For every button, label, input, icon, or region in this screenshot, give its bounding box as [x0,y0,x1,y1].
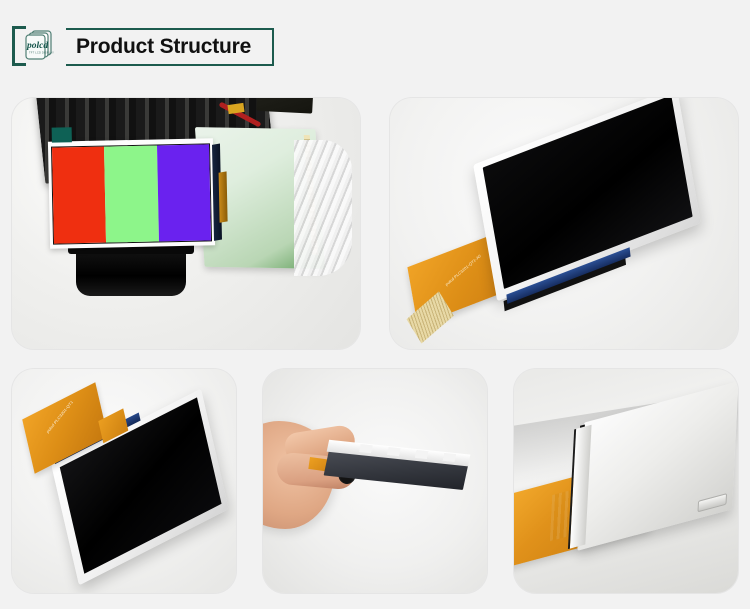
photo-content: polcd PLC3201-QT1 [12,369,236,593]
ribbon-wires-bundle [294,140,352,276]
photo-content [12,98,360,349]
photo-content [263,369,487,593]
lcd-panel [48,138,215,248]
photo-content [514,369,738,593]
page-header: polcd TFT LCD DISPLAY Product Structure [0,0,750,90]
lcd-module-reverse-angle-photo[interactable]: polcd PLC3201-QT1 [12,369,236,593]
fpc-printed-label: polcd PLC3201-QT1-A0 [445,253,482,287]
green-bar [104,145,158,242]
svg-text:polcd: polcd [26,41,48,51]
fpc-printed-label: polcd PLC3201-QT1 [46,399,74,434]
page-title: Product Structure [66,35,251,59]
lcd-module-front-angle-photo[interactable]: polcd PLC3201-QT1-A0 [390,98,738,349]
photo-content: polcd PLC3201-QT1-A0 [390,98,738,349]
lcd-module-back-metal-frame-photo[interactable] [514,369,738,593]
lcd-color-bar-test-photo[interactable] [12,98,360,349]
blue-bar [157,144,211,241]
black-display-stand [76,246,186,296]
color-bar-test-pattern [51,143,212,244]
lcd-side-edge-fpc [219,171,228,222]
polcd-logo-icon: polcd TFT LCD DISPLAY [20,28,60,64]
lcd-module-thickness-in-hand-photo[interactable] [263,369,487,593]
page-title-box: Product Structure [66,28,274,66]
lcd-corner-tab [52,127,72,142]
red-bar [52,147,106,244]
product-structure-gallery: polcd PLC3201-QT1-A0 polcd PLC3201-QT1 [0,90,750,609]
svg-text:TFT LCD DISPLAY: TFT LCD DISPLAY [29,51,54,55]
